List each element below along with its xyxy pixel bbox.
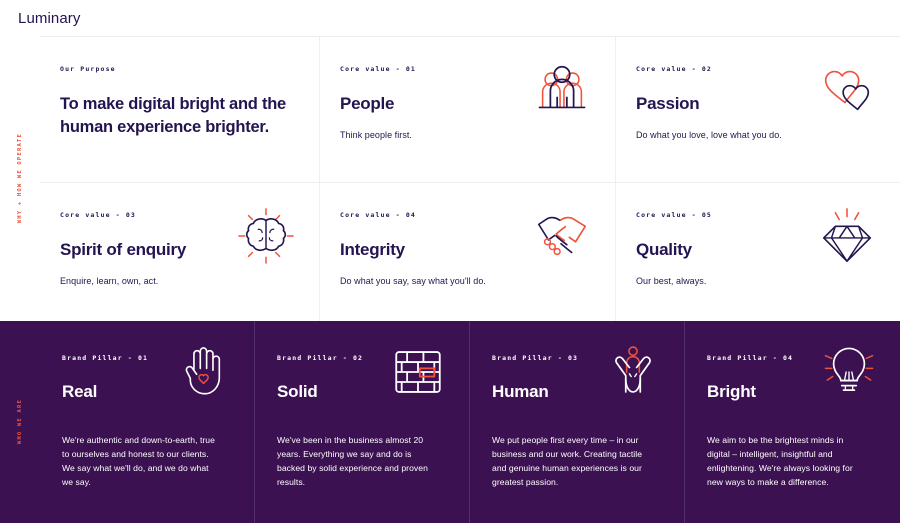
value-card-quality[interactable]: Core value - 05 Quality Our best, always…	[616, 183, 900, 322]
value-desc: Think people first.	[340, 130, 591, 140]
pillar-desc: We're authentic and down-to-earth, true …	[62, 434, 222, 490]
pillar-card-bright[interactable]: Brand Pillar - 04 Bright We aim to be th…	[685, 321, 900, 523]
side-rail: WHY + HOW WE OPERATE WHO WE ARE	[0, 36, 40, 523]
value-title: To make digital bright and the human exp…	[60, 93, 290, 139]
pillar-desc: We put people first every time – in our …	[492, 434, 652, 490]
value-card-purpose[interactable]: Our Purpose To make digital bright and t…	[40, 37, 320, 183]
hands-person-icon	[604, 343, 662, 401]
logo-luminary[interactable]: Luminary	[18, 10, 81, 27]
pillar-card-real[interactable]: Brand Pillar - 01 Real We're authentic a…	[40, 321, 255, 523]
rail-label-operate: WHY + HOW WE OPERATE	[17, 133, 23, 223]
site-header: Luminary	[0, 0, 900, 36]
brain-icon	[235, 205, 297, 267]
value-desc: Enquire, learn, own, act.	[60, 276, 295, 286]
value-card-people[interactable]: Core value - 01 People Think people firs…	[320, 37, 616, 183]
value-desc: Our best, always.	[636, 276, 876, 286]
lightbulb-icon	[820, 343, 878, 401]
two-hearts-icon	[816, 59, 878, 121]
value-desc: Do what you love, love what you do.	[636, 130, 876, 140]
core-values-grid: Our Purpose To make digital bright and t…	[40, 36, 900, 321]
rail-segment-bottom: WHO WE ARE	[0, 321, 40, 523]
pillar-desc: We've been in the business almost 20 yea…	[277, 434, 437, 490]
brick-wall-icon	[389, 343, 447, 401]
pillar-desc: We aim to be the brightest minds in digi…	[707, 434, 867, 490]
value-eyebrow: Our Purpose	[60, 65, 295, 73]
rail-label-who-we-are: WHO WE ARE	[17, 399, 23, 444]
pillar-card-human[interactable]: Brand Pillar - 03 Human We put people fi…	[470, 321, 685, 523]
people-group-icon	[531, 59, 593, 121]
page-root: Luminary WHY + HOW WE OPERATE WHO WE ARE…	[0, 0, 900, 523]
diamond-icon	[816, 205, 878, 267]
handshake-icon	[531, 205, 593, 267]
hand-heart-icon	[174, 343, 232, 401]
brand-pillars-grid: Brand Pillar - 01 Real We're authentic a…	[40, 321, 900, 523]
value-desc: Do what you say, say what you'll do.	[340, 276, 591, 286]
rail-segment-top: WHY + HOW WE OPERATE	[0, 36, 40, 321]
value-card-spirit-of-enquiry[interactable]: Core value - 03 Spirit of enquiry Enquir…	[40, 183, 320, 322]
pillar-card-solid[interactable]: Brand Pillar - 02 Solid We've been in th…	[255, 321, 470, 523]
value-card-integrity[interactable]: Core value - 04 Integrity Do what you sa…	[320, 183, 616, 322]
value-card-passion[interactable]: Core value - 02 Passion Do what you love…	[616, 37, 900, 183]
